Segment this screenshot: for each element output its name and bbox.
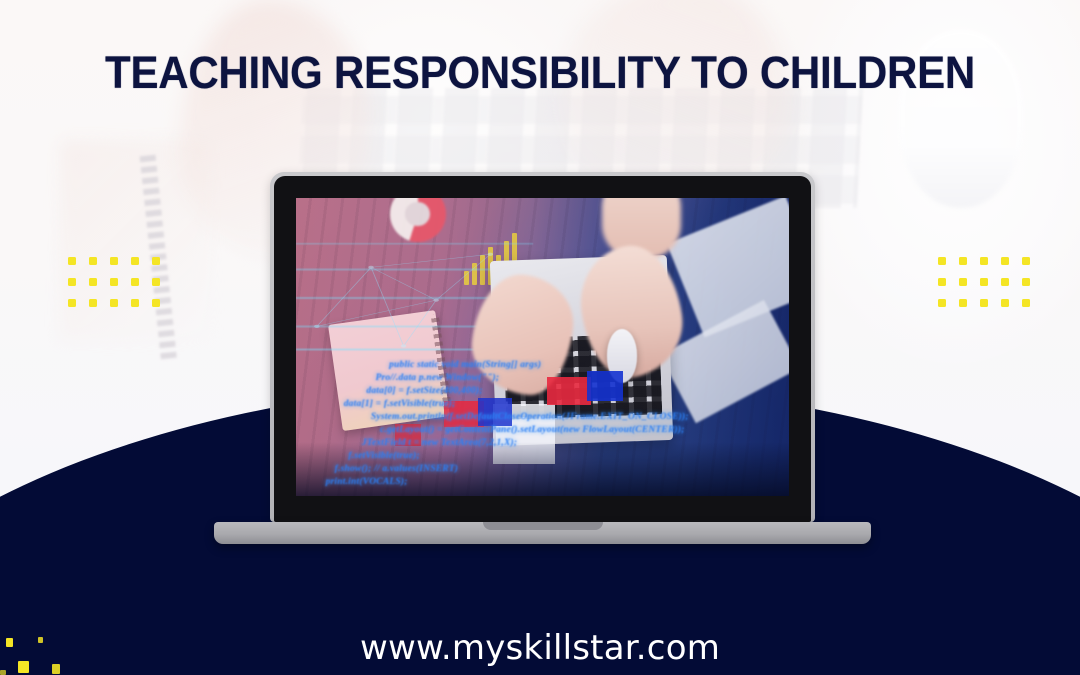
yellow-dot — [1001, 278, 1009, 286]
code-line: c.getLayout() = getContentPane().setLayo… — [326, 424, 780, 437]
laptop-screen: public static void main(String[] args) P… — [296, 198, 789, 496]
yellow-dot — [959, 299, 967, 307]
code-line: f.show(); // a.values(INSERT) — [326, 463, 780, 476]
yellow-dot — [1001, 299, 1009, 307]
yellow-dot — [959, 278, 967, 286]
code-line: data[0] = f.setSize(400,400); — [326, 385, 780, 398]
yellow-dot — [110, 299, 118, 307]
code-line: Pro//.data p.new Window(""); — [326, 372, 780, 385]
page-title: TEACHING RESPONSIBILITY TO CHILDREN — [35, 47, 1045, 99]
yellow-dot — [110, 278, 118, 286]
yellow-dot — [938, 257, 946, 265]
yellow-dot — [980, 299, 988, 307]
code-line: JTextField t = new TextArea(7,2,1,X); — [326, 437, 780, 450]
code-line: public static void main(String[] args) — [326, 359, 780, 372]
yellow-dot — [1022, 299, 1030, 307]
yellow-dot — [131, 299, 139, 307]
laptop-lid: public static void main(String[] args) P… — [270, 172, 815, 522]
code-line: System.out.println(f.setDefaultCloseOper… — [326, 411, 780, 424]
yellow-dot — [1022, 257, 1030, 265]
yellow-dot — [980, 257, 988, 265]
yellow-dot — [89, 257, 97, 265]
screen-code-overlay: public static void main(String[] args) P… — [306, 359, 779, 496]
yellow-dot — [152, 278, 160, 286]
yellow-dot — [152, 299, 160, 307]
yellow-dot — [959, 257, 967, 265]
yellow-dot — [131, 278, 139, 286]
code-line: data[1] = f.setVisible(true); — [326, 398, 780, 411]
code-line: print.int(VOCALS); — [326, 476, 780, 489]
yellow-dot — [980, 278, 988, 286]
yellow-dot — [131, 257, 139, 265]
yellow-dot — [110, 257, 118, 265]
yellow-dot — [68, 278, 76, 286]
yellow-dot — [68, 299, 76, 307]
yellow-dot — [89, 299, 97, 307]
yellow-dot — [938, 278, 946, 286]
code-line: f.setVisible(true); — [326, 450, 780, 463]
website-url[interactable]: www.myskillstar.com — [0, 628, 1080, 668]
yellow-dot — [152, 257, 160, 265]
poster-canvas: TEACHING RESPONSIBILITY TO CHILDREN — [0, 0, 1080, 675]
laptop-base-notch — [483, 522, 603, 530]
laptop-mockup: public static void main(String[] args) P… — [270, 172, 815, 544]
yellow-dot — [1022, 278, 1030, 286]
yellow-dot — [68, 257, 76, 265]
yellow-dot-grid-right — [938, 257, 1030, 307]
yellow-dot — [938, 299, 946, 307]
yellow-dot — [89, 278, 97, 286]
yellow-dot-grid-left — [68, 257, 160, 307]
spark-dot — [0, 670, 6, 675]
laptop-base — [214, 522, 871, 544]
laptop-bezel: public static void main(String[] args) P… — [274, 176, 811, 522]
yellow-dot — [1001, 257, 1009, 265]
